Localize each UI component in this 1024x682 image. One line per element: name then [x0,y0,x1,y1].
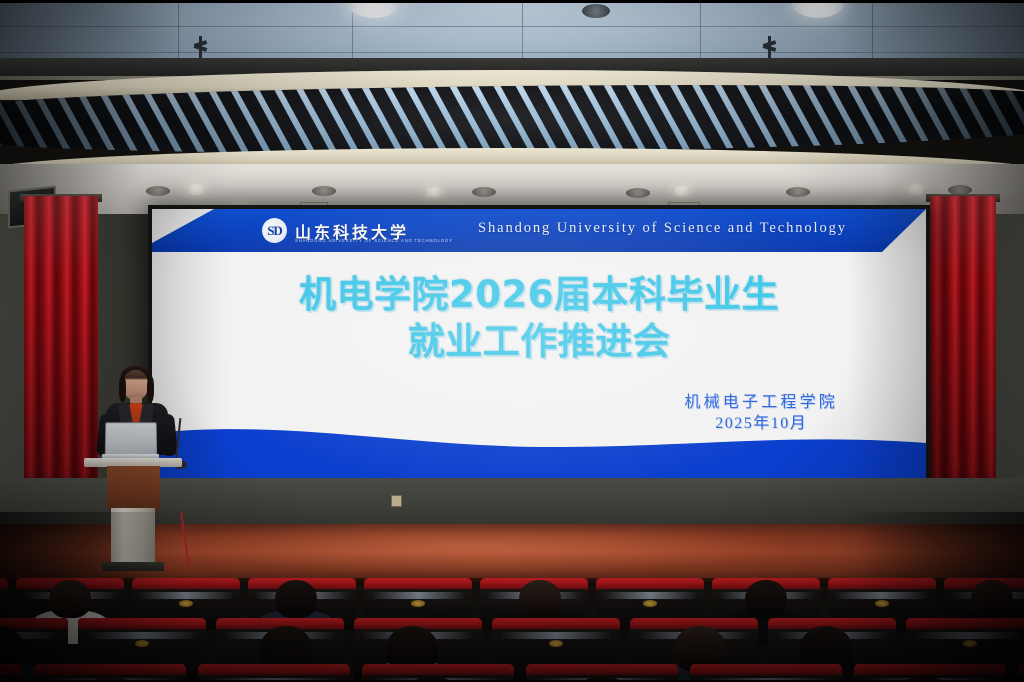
speaker-hair-right [147,376,154,402]
seat-headrest [854,664,1006,675]
university-name-en-small: SHANDONG UNIVERSITY OF SCIENCE AND TECHN… [295,238,453,243]
audience-seating [0,512,1024,682]
laptop-screen [105,422,157,457]
seat-headrest [492,618,620,629]
ceiling-vent-icon [146,186,170,196]
seat-highlight [86,632,199,639]
podium-front-panel [107,466,160,510]
seat-highlight [370,592,465,599]
seat-headrest [906,618,1024,629]
slide-subtitle-department: 机械电子工程学院 [684,392,838,413]
audience-head [745,580,787,618]
sprinkler-icon [199,36,202,58]
seat-number-badge [179,600,193,607]
ceiling-vent-icon [582,4,610,18]
ceiling-vent-icon [472,187,496,197]
seat-highlight [138,592,233,599]
slide-title-line2: 就业工作推进会 [152,318,926,365]
slide-title-line1: 机电学院2026届本科毕业生 [152,271,926,318]
letterbox-top [0,0,1024,3]
audience-head [49,580,91,618]
seat-number-badge [135,640,149,647]
ceiling-vent-icon [626,188,650,198]
seat-highlight [914,632,1024,639]
seat-headrest [828,578,936,589]
audience-head [971,580,1013,618]
seat-number-badge [411,600,425,607]
ceiling-downlight-icon [186,184,206,195]
ceiling-upper-panel [0,0,1024,60]
seat-headrest [0,578,8,589]
seat-number-badge [643,600,657,607]
seat-headrest [362,664,514,675]
seat-headrest [78,618,206,629]
seat-headrest [1018,664,1024,675]
seat-number-badge [963,640,977,647]
seat-highlight [602,592,697,599]
ceiling-vent-icon [312,186,336,196]
ceiling-downlight-icon [424,187,443,197]
slide-title: 机电学院2026届本科毕业生 就业工作推进会 [152,271,926,365]
logo-mark-text: SD [267,224,282,237]
seat-headrest [132,578,240,589]
sprinkler-icon [768,36,771,58]
seat-highlight [834,592,929,599]
seat-number-badge [875,600,889,607]
projection-screen: SD 山东科技大学 SHANDONG UNIVERSITY OF SCIENCE… [152,209,926,479]
seat-highlight [500,632,613,639]
stage-curtain-right [930,196,996,526]
slide-footer-wave [152,417,926,479]
ceiling-louver-band [0,80,1024,158]
ceiling-downlight-icon [672,186,691,196]
university-name-en: Shandong University of Science and Techn… [478,220,847,237]
ceiling-vent-icon [786,187,810,197]
speaker-head [123,370,148,400]
seat-headrest [34,664,186,675]
seat-headrest [0,664,22,675]
seat-headrest [526,664,678,675]
seat-highlight [0,592,2,599]
seat-headrest [198,664,350,675]
seat-headrest [690,664,842,675]
seat-headrest [364,578,472,589]
university-logo-icon: SD [262,218,287,243]
seat-number-badge [549,640,563,647]
audience-head [275,580,317,618]
ceiling-downlight-icon [906,184,926,195]
auditorium-photo: SD 山东科技大学 SHANDONG UNIVERSITY OF SCIENCE… [0,0,1024,682]
speaker-hair-left [119,376,126,402]
audience-head [519,580,561,618]
wall-outlet-plate [391,495,402,507]
seat-headrest [596,578,704,589]
